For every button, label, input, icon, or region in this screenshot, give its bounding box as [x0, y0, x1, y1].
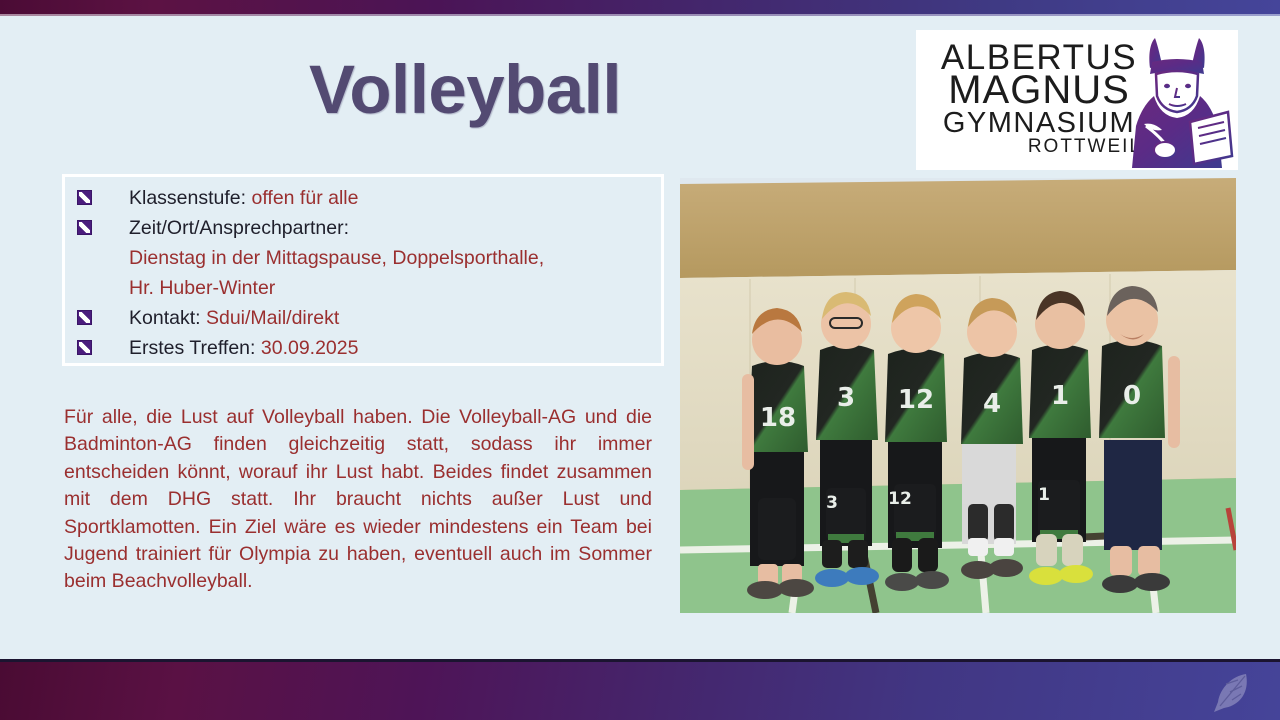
bullet-value: Sdui/Mail/direkt [206, 307, 339, 329]
school-logo-wordmark: ALBERTUS MAGNUS GYMNASIUM ROTTWEIL [930, 42, 1148, 155]
top-accent-hairline [0, 14, 1280, 16]
bullet-label: Kontakt: [129, 307, 201, 329]
svg-text:3: 3 [837, 383, 855, 413]
page-title: Volleyball [0, 55, 930, 124]
albertus-magnus-portrait-icon [1118, 34, 1236, 168]
list-subline: Dienstag in der Mittagspause, Doppelspor… [73, 243, 653, 273]
list-item: Klassenstufe: offen für alle [73, 183, 653, 213]
pen-square-bullet-icon [77, 220, 92, 235]
svg-text:1: 1 [1038, 485, 1050, 505]
list-item: Kontakt: Sdui/Mail/direkt [73, 303, 653, 333]
logo-line-rottweil: ROTTWEIL [930, 138, 1148, 155]
feather-icon [1208, 670, 1254, 716]
pen-square-bullet-icon [77, 310, 92, 325]
school-logo: ALBERTUS MAGNUS GYMNASIUM ROTTWEIL [916, 30, 1238, 170]
bullet-value: 30.09.2025 [261, 337, 359, 359]
slide-root: Volleyball ALBERTUS MAGNUS GYMNASIUM ROT… [0, 0, 1280, 720]
top-accent-bar [0, 0, 1280, 14]
bullet-value: offen für alle [252, 187, 359, 209]
team-photo-illustration: 18 3 3 [680, 178, 1236, 613]
svg-text:3: 3 [826, 493, 838, 513]
description-paragraph: Für alle, die Lust auf Volleyball haben.… [64, 404, 652, 596]
subline-ort: Dienstag in der Mittagspause, Doppelspor… [129, 243, 544, 273]
bullet-label: Klassenstufe: [129, 187, 246, 209]
list-item: Erstes Treffen: 30.09.2025 [73, 333, 653, 363]
team-photo: 18 3 3 [680, 178, 1236, 613]
subline-ansprechpartner: Hr. Huber-Winter [129, 273, 275, 303]
svg-text:4: 4 [983, 389, 1001, 419]
list-item: Zeit/Ort/Ansprechpartner: [73, 213, 653, 243]
bullet-list: Klassenstufe: offen für alle Zeit/Ort/An… [73, 183, 653, 363]
svg-text:0: 0 [1123, 381, 1141, 411]
bullet-line-erstes-treffen: Erstes Treffen: 30.09.2025 [129, 333, 358, 363]
bullet-label: Erstes Treffen: [129, 337, 255, 359]
svg-text:18: 18 [760, 403, 796, 433]
svg-text:12: 12 [898, 385, 934, 415]
bullet-line-klassenstufe: Klassenstufe: offen für alle [129, 183, 358, 213]
logo-line-gymnasium: GYMNASIUM [930, 110, 1148, 137]
pen-square-bullet-icon [77, 190, 92, 205]
logo-line-magnus: MAGNUS [930, 72, 1148, 109]
footer-bar: Menschen bilden [0, 662, 1280, 720]
bullet-line-kontakt: Kontakt: Sdui/Mail/direkt [129, 303, 339, 333]
player-4: 4 [961, 298, 1023, 579]
bullet-line-zeit-ort: Zeit/Ort/Ansprechpartner: [129, 213, 349, 243]
pen-square-bullet-icon [77, 340, 92, 355]
list-subline: Hr. Huber-Winter [73, 273, 653, 303]
svg-text:1: 1 [1051, 381, 1069, 411]
info-box: Klassenstufe: offen für alle Zeit/Ort/An… [62, 174, 664, 366]
svg-text:12: 12 [888, 489, 912, 509]
